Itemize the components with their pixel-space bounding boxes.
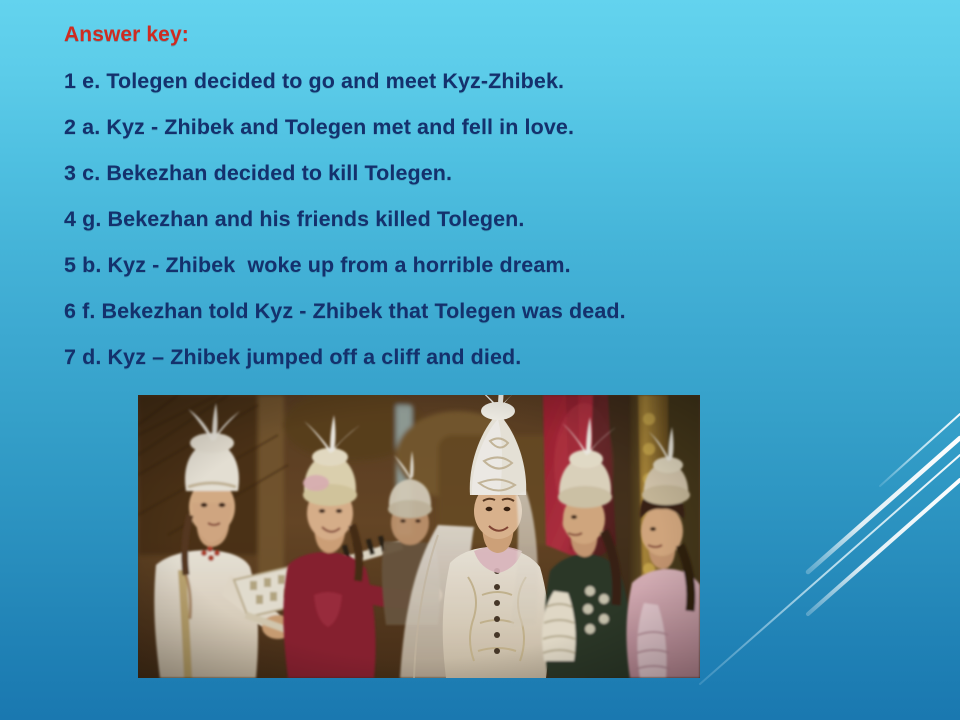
photo-illustration (138, 395, 700, 678)
answer-item-7: 7 d. Kyz – Zhibek jumped off a cliff and… (64, 334, 894, 380)
answer-item-1: 1 e. Tolegen decided to go and meet Kyz-… (64, 58, 894, 104)
answer-item-4: 4 g. Bekezhan and his friends killed Tol… (64, 196, 894, 242)
slide-canvas: Answer key: 1 e. Tolegen decided to go a… (0, 0, 960, 720)
answer-item-3: 3 c. Bekezhan decided to kill Tolegen. (64, 150, 894, 196)
accent-line-3 (808, 438, 960, 572)
accent-line-2 (808, 480, 960, 614)
accent-line-4 (880, 414, 960, 486)
slide-photo (138, 395, 700, 678)
accent-line-1 (700, 455, 960, 684)
answer-item-6: 6 f. Bekezhan told Kyz - Zhibek that Tol… (64, 288, 894, 334)
page-title: Answer key: (64, 12, 894, 58)
answer-item-5: 5 b. Kyz - Zhibek woke up from a horribl… (64, 242, 894, 288)
answer-item-2: 2 a. Kyz - Zhibek and Tolegen met and fe… (64, 104, 894, 150)
answer-key-block: Answer key: 1 e. Tolegen decided to go a… (64, 12, 894, 380)
